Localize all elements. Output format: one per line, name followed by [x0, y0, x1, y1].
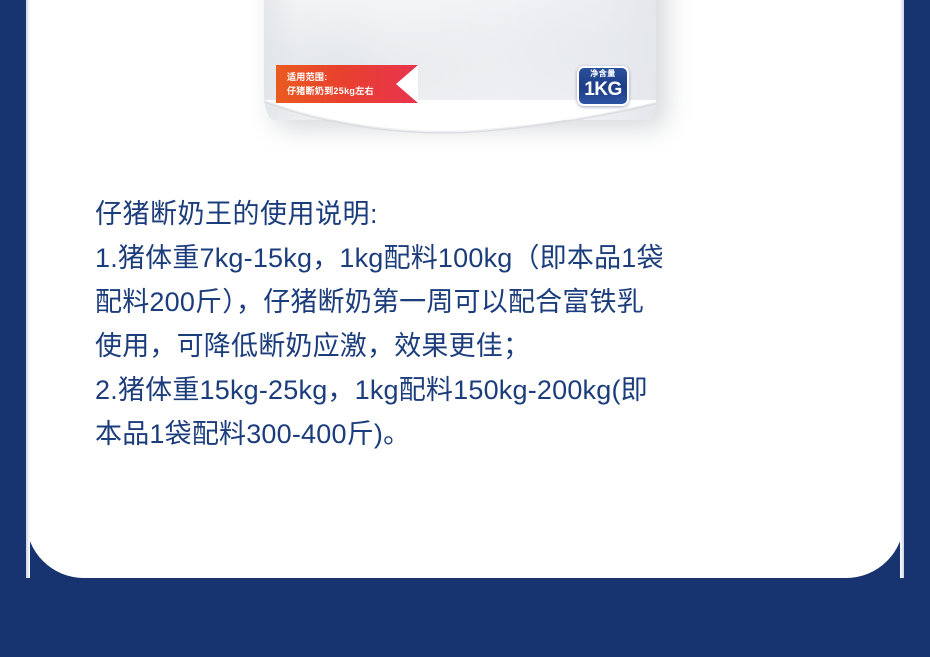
card-edge-seam-left [26, 0, 30, 578]
instructions-line: 1.猪体重7kg-15kg，1kg配料100kg（即本品1袋 [95, 236, 855, 280]
net-weight-value: 1KG [579, 79, 627, 100]
navy-frame-right-bar [904, 0, 930, 657]
navy-frame-left-bar [0, 0, 26, 657]
instructions-line: 使用，可降低断奶应激，效果更佳； [95, 324, 855, 368]
instructions-line: 2.猪体重15kg-25kg，1kg配料150kg-200kg(即 [95, 368, 855, 412]
scope-ribbon-banner: 适用范围: 仔猪断奶到25kg左右 [276, 65, 418, 103]
usage-instructions-block: 仔猪断奶王的使用说明: 1.猪体重7kg-15kg，1kg配料100kg（即本品… [95, 192, 855, 456]
product-detail-page: 适用范围: 仔猪断奶到25kg左右 净含量 1KG 仔猪断奶王的使用说明: 1.… [0, 0, 930, 657]
instructions-title: 仔猪断奶王的使用说明: [95, 192, 855, 236]
instructions-line: 配料200斤），仔猪断奶第一周可以配合富铁乳 [95, 280, 855, 324]
card-edge-seam-right [900, 0, 904, 578]
instructions-line: 本品1袋配料300-400斤)。 [95, 412, 855, 456]
ribbon-text: 适用范围: 仔猪断奶到25kg左右 [287, 70, 374, 98]
net-weight-badge: 净含量 1KG [577, 66, 629, 106]
ribbon-line-2: 仔猪断奶到25kg左右 [287, 86, 374, 96]
net-weight-label: 净含量 [579, 69, 627, 79]
ribbon-line-1: 适用范围: [287, 72, 328, 82]
bag-bottom-fold [264, 100, 656, 144]
